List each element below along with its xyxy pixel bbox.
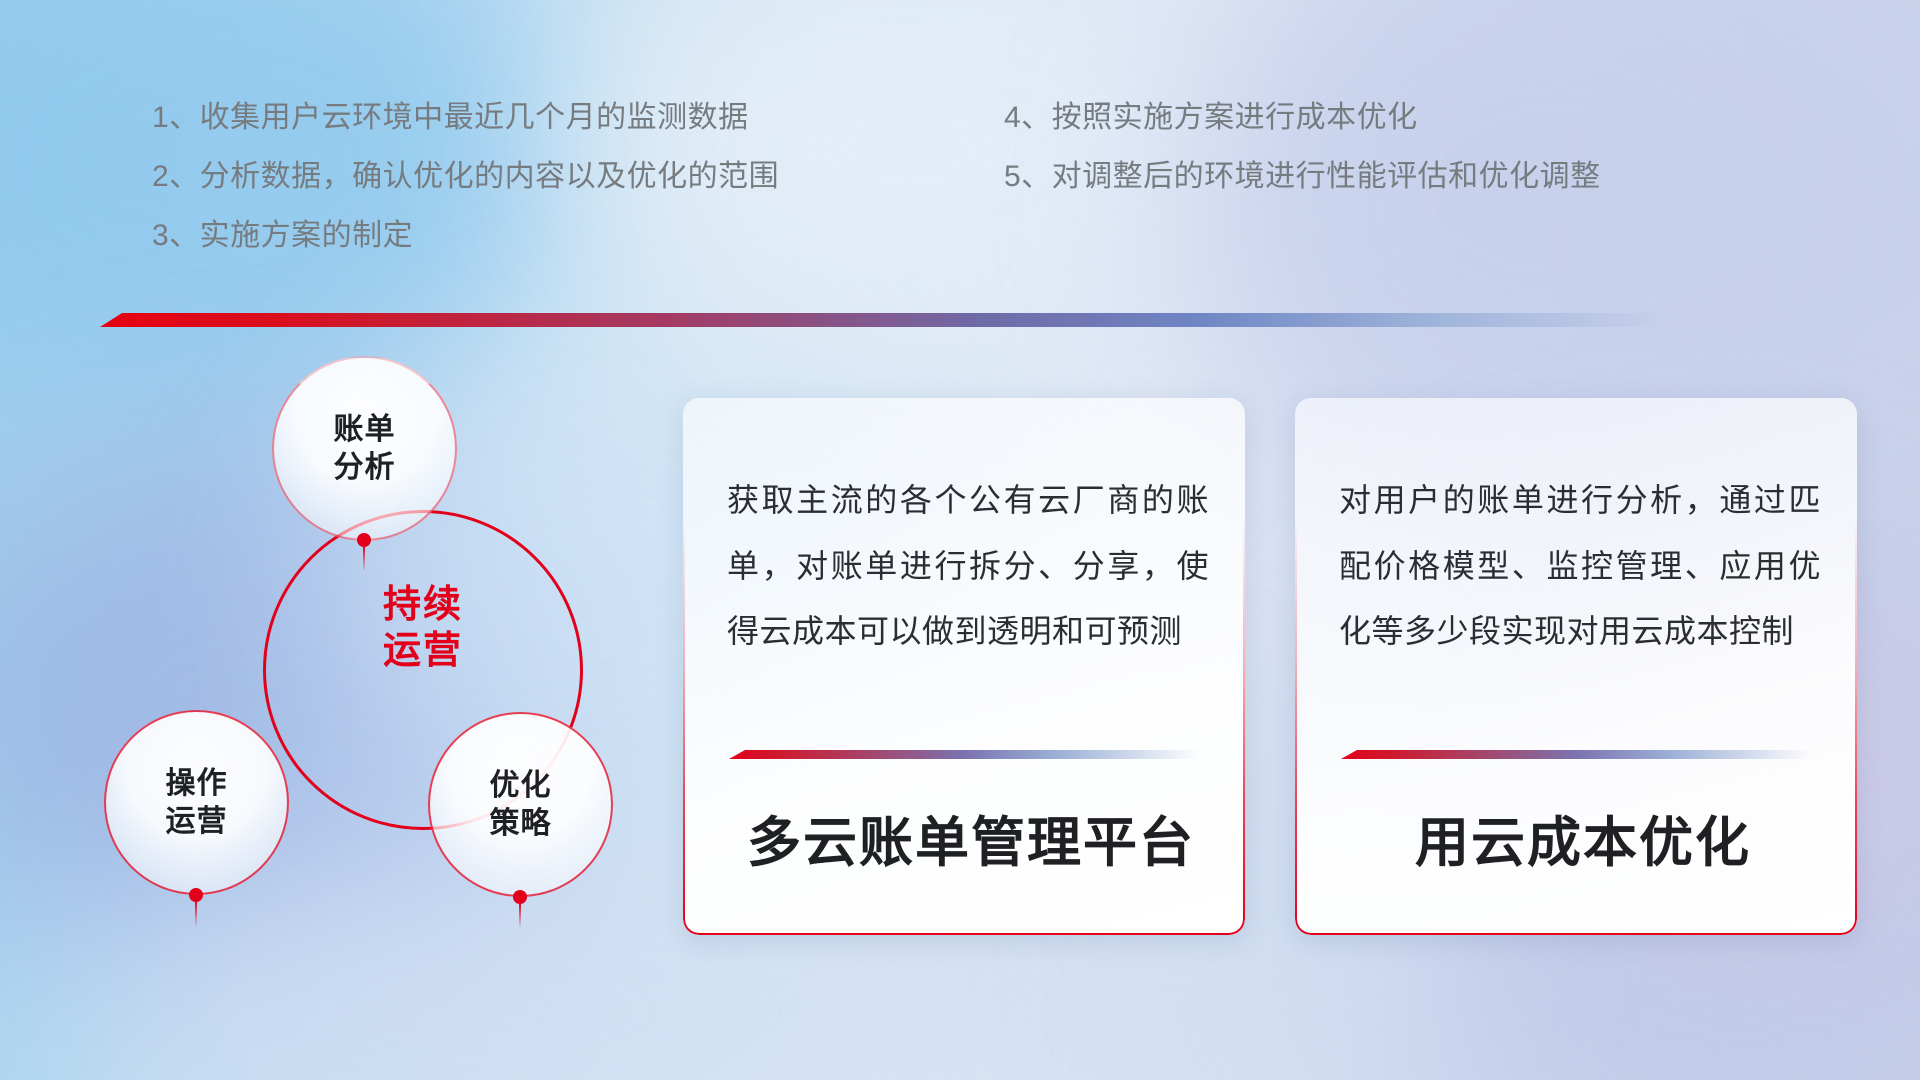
info-card-multicloud-billing[interactable]: 获取主流的各个公有云厂商的账单，对账单进行拆分、分享，使得云成本可以做到透明和可… (683, 398, 1245, 935)
venn-lobe-operations[interactable]: 操作 运营 (104, 710, 289, 895)
step-item-3: 3、实施方案的制定 (152, 210, 413, 254)
venn-lobe-left-line2: 运营 (166, 803, 228, 841)
venn-node-dot (189, 888, 203, 902)
info-card-cloud-cost-optimization[interactable]: 对用户的账单进行分析，通过匹配价格模型、监控管理、应用优化等多少段实现对用云成本… (1295, 398, 1857, 935)
venn-center-label: 持续 运营 (263, 582, 583, 675)
process-steps-list: 1、收集用户云环境中最近几个月的监测数据 2、分析数据，确认优化的内容以及优化的… (0, 92, 1920, 282)
section-divider-bar (100, 313, 1670, 327)
venn-node-tail (363, 546, 365, 572)
venn-lobe-left-line1: 操作 (166, 765, 228, 803)
info-card-body: 对用户的账单进行分析，通过匹配价格模型、监控管理、应用优化等多少段实现对用云成本… (1339, 468, 1821, 665)
step-item-4: 4、按照实施方案进行成本优化 (1004, 92, 1418, 136)
venn-lobe-top-label: 账单 分析 (334, 411, 396, 487)
venn-center-label-line2: 运营 (263, 628, 583, 674)
venn-lobe-top-line2: 分析 (334, 449, 396, 487)
venn-node-tail (519, 903, 521, 929)
venn-node-dot (357, 533, 371, 547)
venn-lobe-right-label: 优化 策略 (490, 767, 552, 843)
venn-lobe-top-line1: 账单 (334, 411, 396, 449)
venn-center-label-line1: 持续 (263, 582, 583, 628)
venn-lobe-optimization-strategy[interactable]: 优化 策略 (428, 712, 613, 897)
venn-lobe-bill-analysis[interactable]: 账单 分析 (272, 356, 457, 541)
section-divider (100, 313, 1670, 327)
step-item-1: 1、收集用户云环境中最近几个月的监测数据 (152, 92, 749, 136)
info-card-title: 多云账单管理平台 (727, 798, 1215, 877)
venn-node-tail (195, 901, 197, 927)
info-card-title: 用云成本优化 (1339, 798, 1827, 877)
info-card-rule (1341, 750, 1811, 759)
step-item-2: 2、分析数据，确认优化的内容以及优化的范围 (152, 151, 779, 195)
info-card-body: 获取主流的各个公有云厂商的账单，对账单进行拆分、分享，使得云成本可以做到透明和可… (727, 468, 1209, 665)
venn-lobe-left-label: 操作 运营 (166, 765, 228, 841)
venn-node-dot (513, 890, 527, 904)
step-item-5: 5、对调整后的环境进行性能评估和优化调整 (1004, 151, 1601, 195)
venn-diagram: 持续 运营 账单 分析 操作 运营 优化 策略 (98, 350, 658, 930)
venn-lobe-right-line2: 策略 (490, 805, 552, 843)
info-card-rule (729, 750, 1199, 759)
venn-lobe-right-line1: 优化 (490, 767, 552, 805)
